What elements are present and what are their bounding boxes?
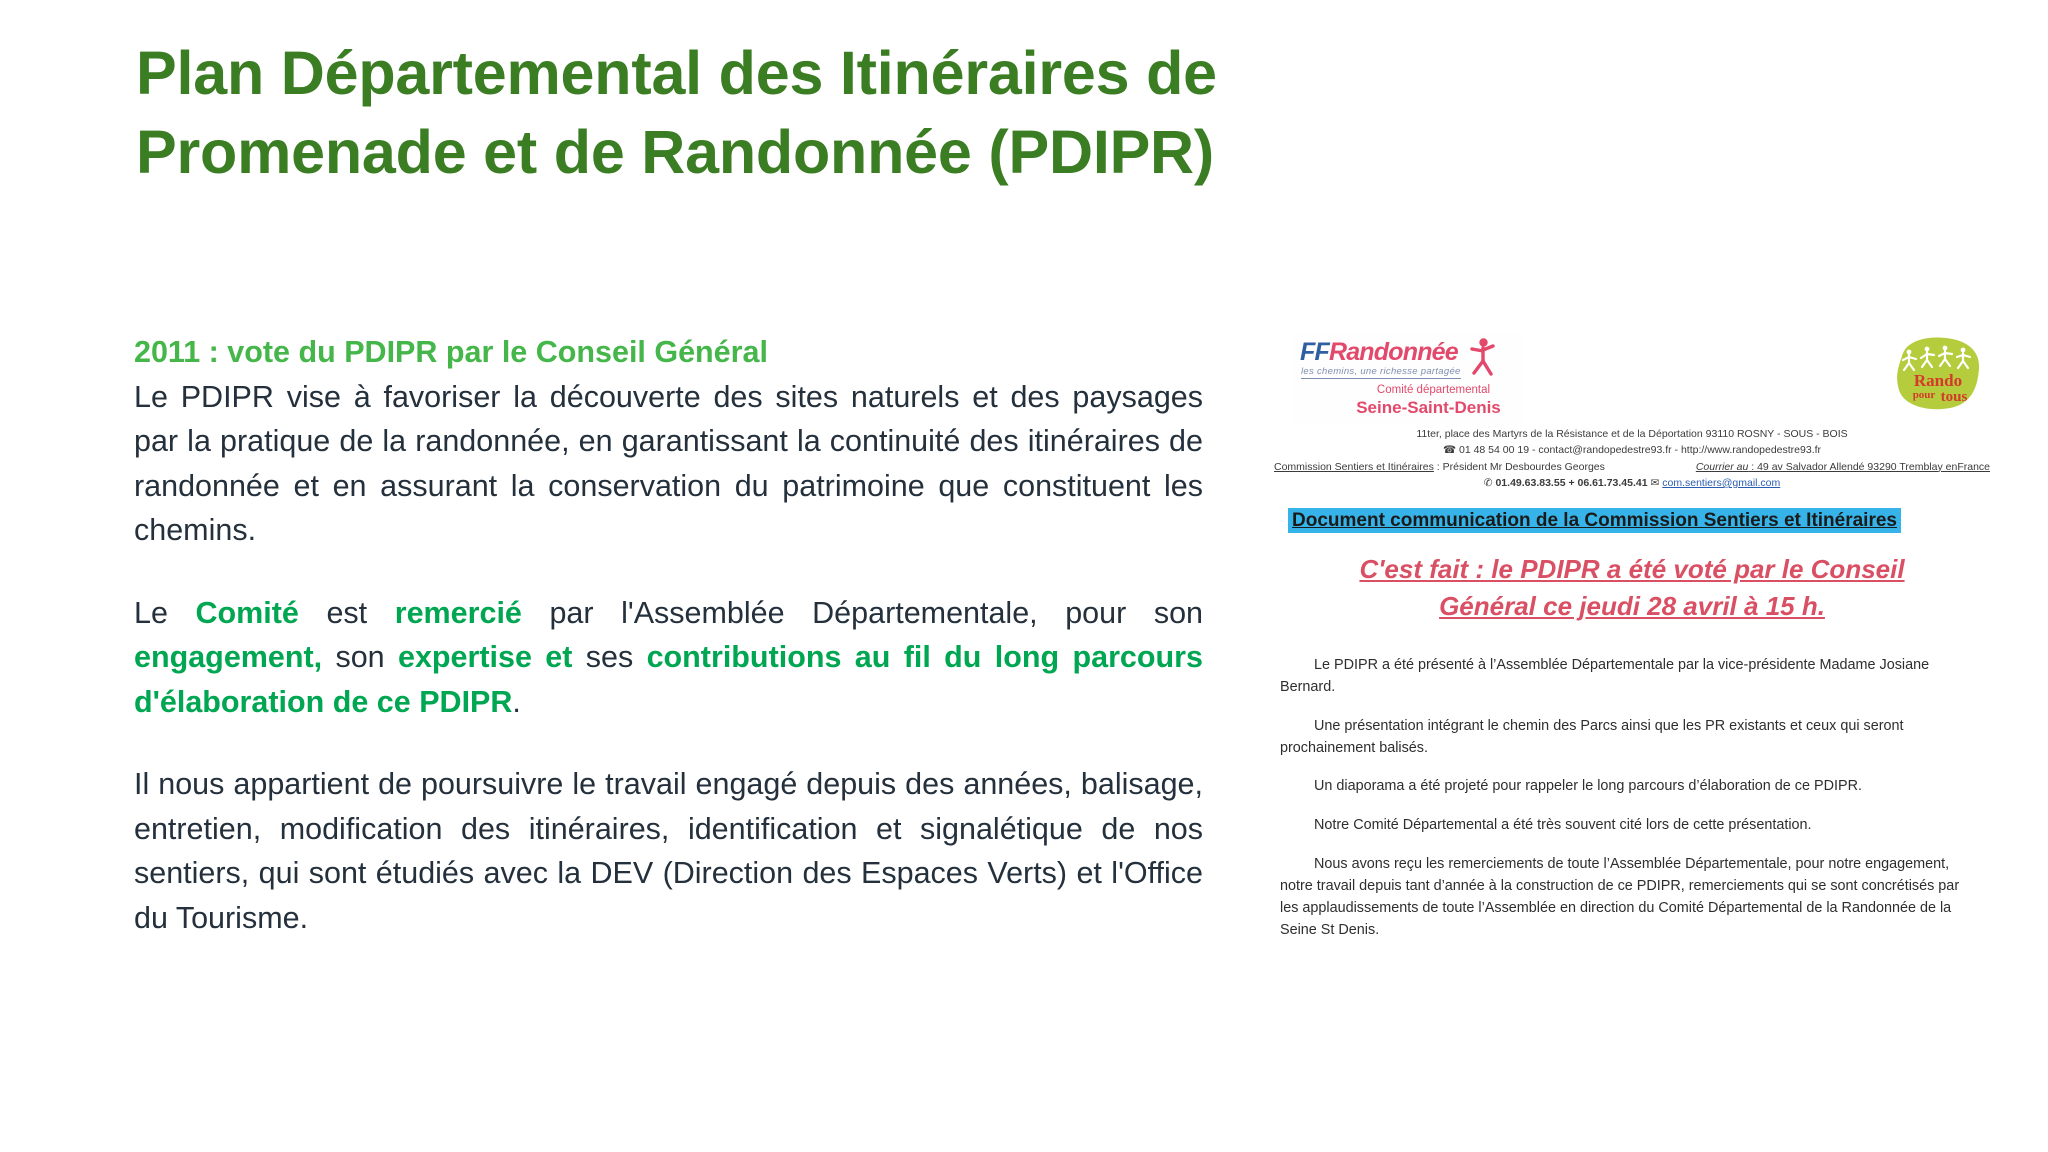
tous-text: tous: [1941, 389, 1968, 405]
paragraph-comite-remercie: Le Comité est remercié par l'Assemblée D…: [134, 591, 1203, 725]
doc-paragraph-3: Un diaporama a été projeté pour rappeler…: [1280, 776, 1980, 798]
phone-icon: ☎: [1443, 444, 1456, 456]
commission-president: : Président Mr Desbourdes Georges: [1434, 461, 1605, 473]
scanned-document: FFRandonnée les chemins, une richesse pa…: [1272, 330, 1992, 1030]
seg-plain-4: son: [322, 640, 398, 674]
seg-green-engagement: engagement,: [134, 640, 322, 674]
seg-green-expertise: expertise et: [398, 640, 572, 674]
address-contact-text: 01 48 54 00 19 - contact@randopedestre93…: [1459, 444, 1821, 456]
email-link[interactable]: com.sentiers@gmail.com: [1662, 477, 1780, 489]
seg-plain-5: ses: [572, 640, 646, 674]
paragraph-spacer-1: [134, 553, 1203, 591]
seg-plain-2: est: [299, 596, 395, 630]
seg-plain-1: Le: [134, 596, 196, 630]
document-headline: C'est fait : le PDIPR a été voté par le …: [1272, 551, 1992, 625]
doc-paragraph-5: Nous avons reçu les remerciements de tou…: [1280, 854, 1980, 942]
rando-text: Rando: [1914, 371, 1962, 390]
headline-line-2: Général ce jeudi 28 avril à 15 h.: [1439, 591, 1825, 621]
document-banner-highlight: Document communication de la Commission …: [1288, 508, 1901, 533]
left-text-column: 2011 : vote du PDIPR par le Conseil Géné…: [134, 330, 1203, 940]
commission-row: Commission Sentiers et Itinéraires : Pré…: [1272, 459, 1992, 475]
commission-title: Commission Sentiers et Itinéraires: [1274, 461, 1434, 473]
phone-numbers: 01.49.63.83.55 + 06.61.73.45.41: [1495, 477, 1647, 489]
document-body: Le PDIPR a été présenté à l’Assemblée Dé…: [1272, 655, 1992, 942]
address-line-2: ☎ 01 48 54 00 19 - contact@randopedestre…: [1272, 442, 1992, 458]
seg-plain-6: .: [512, 685, 520, 719]
seg-green-comite: Comité: [196, 596, 299, 630]
rando-pour-tous-logo: Rando pour tous: [1892, 334, 1984, 414]
doc-paragraph-1: Le PDIPR a été présenté à l’Assemblée Dé…: [1280, 655, 1980, 699]
ff-prefix: FF: [1300, 338, 1329, 366]
section-heading-2011: 2011 : vote du PDIPR par le Conseil Géné…: [134, 330, 1203, 375]
committee-label: Comité départemental: [1346, 384, 1521, 396]
ffrandonnee-logo: FFRandonnée les chemins, une richesse pa…: [1292, 332, 1524, 424]
mail-icon: ✉: [1651, 477, 1660, 489]
fax-icon: ✆: [1484, 477, 1493, 489]
department-label: Seine-Saint-Denis: [1336, 398, 1521, 418]
paragraph-spacer-2: [134, 724, 1203, 762]
courrier-value: : 49 av Salvador Allendé 93290 Tremblay …: [1748, 461, 1990, 473]
document-logo-row: FFRandonnée les chemins, une richesse pa…: [1272, 330, 1992, 426]
paragraph-poursuivre-travail: Il nous appartient de poursuivre le trav…: [134, 762, 1203, 940]
page-title: Plan Départemental des Itinéraires de Pr…: [136, 34, 1536, 193]
doc-paragraph-4: Notre Comité Départemental a été très so…: [1280, 815, 1980, 837]
courrier-label: Courrier au: [1696, 461, 1749, 473]
paragraph-pdipr-objectives: Le PDIPR vise à favoriser la découverte …: [134, 375, 1203, 553]
commission-left: Commission Sentiers et Itinéraires : Pré…: [1274, 459, 1605, 475]
ffrandonnee-wordmark: FFRandonnée: [1300, 338, 1458, 367]
doc-paragraph-2: Une présentation intégrant le chemin des…: [1280, 716, 1980, 760]
seg-green-remercie: remercié: [395, 596, 522, 630]
headline-line-1: C'est fait : le PDIPR a été voté par le …: [1359, 554, 1904, 584]
ffrandonnee-tagline: les chemins, une richesse partagée: [1301, 366, 1461, 379]
walking-figure-icon: [1462, 336, 1502, 380]
address-line-1: 11ter, place des Martyrs de la Résistanc…: [1272, 426, 1992, 442]
seg-plain-3: par l'Assemblée Départementale, pour son: [522, 596, 1203, 630]
ff-name: Randonnée: [1329, 338, 1458, 366]
commission-right: Courrier au : 49 av Salvador Allendé 932…: [1696, 459, 1990, 475]
contact-phones-row: ✆ 01.49.63.83.55 + 06.61.73.45.41 ✉ com.…: [1272, 475, 1992, 491]
pour-text: pour: [1913, 389, 1936, 401]
